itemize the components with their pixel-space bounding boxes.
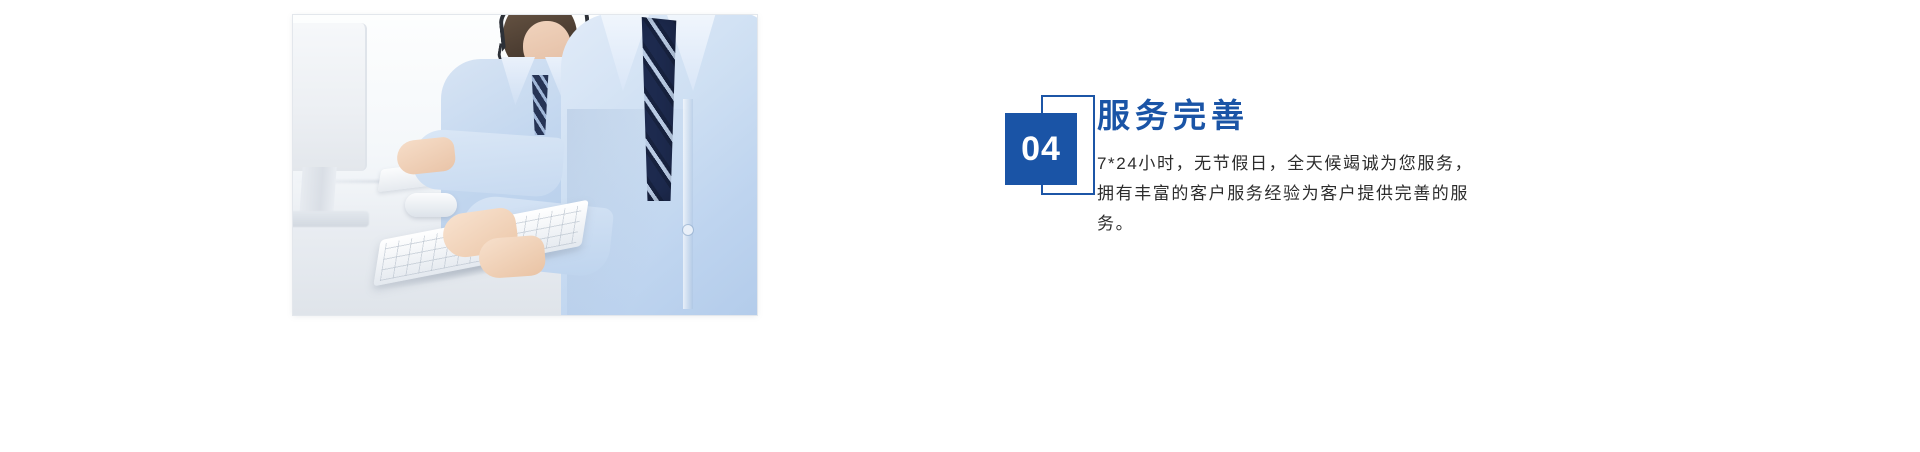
- shirt-button: [683, 225, 693, 235]
- agent-hand-right: [478, 235, 547, 280]
- feature-text: 服务完善 7*24小时，无节假日，全天候竭诚为您服务，拥有丰富的客户服务经验为客…: [1097, 97, 1517, 239]
- step-badge-number: 04: [1021, 132, 1061, 166]
- shirt-placket: [683, 99, 693, 309]
- monitor-icon: [293, 23, 367, 171]
- feature-photo: [293, 15, 757, 315]
- monitor-stand-neck: [299, 167, 336, 215]
- feature-description: 7*24小时，无节假日，全天候竭诚为您服务，拥有丰富的客户服务经验为客户提供完善…: [1097, 149, 1489, 239]
- page-root: 04 服务完善 7*24小时，无节假日，全天候竭诚为您服务，拥有丰富的客户服务经…: [0, 0, 1920, 452]
- agent-hand-typing: [395, 136, 456, 176]
- computer-mouse: [405, 193, 457, 217]
- step-badge-square: 04: [1005, 113, 1077, 185]
- monitor-stand-base: [293, 211, 369, 227]
- photo-scene: [293, 15, 757, 315]
- step-badge: 04: [1005, 95, 1097, 205]
- feature-title: 服务完善: [1097, 97, 1517, 135]
